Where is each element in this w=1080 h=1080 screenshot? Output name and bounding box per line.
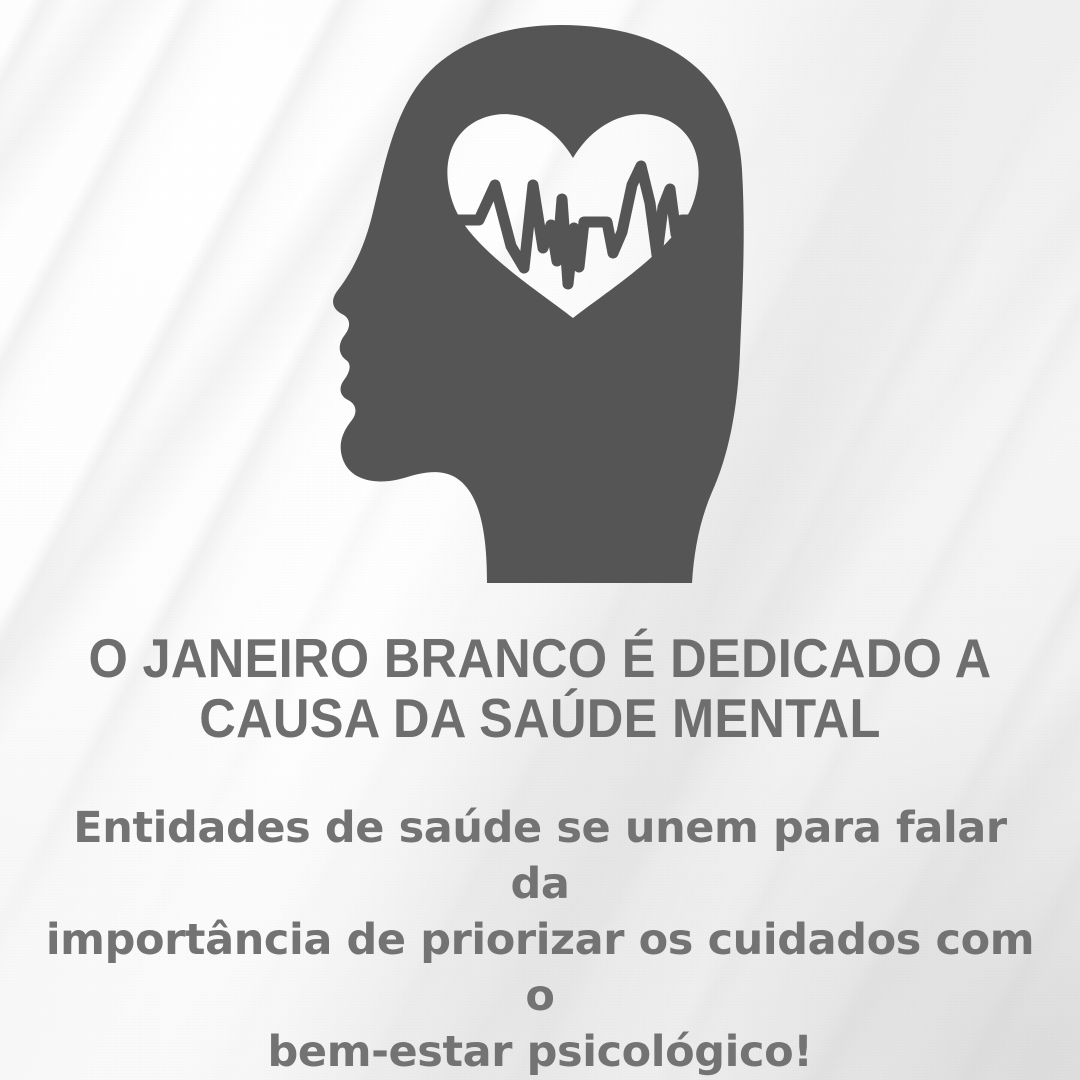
headline: O JANEIRO BRANCO É DEDICADO A CAUSA DA S… (80, 628, 1000, 748)
head-profile-with-heartbeat-illustration (0, 0, 1080, 620)
poster-canvas: O JANEIRO BRANCO É DEDICADO A CAUSA DA S… (0, 0, 1080, 1080)
head-silhouette-icon (0, 0, 1080, 620)
text-block: O JANEIRO BRANCO É DEDICADO A CAUSA DA S… (0, 628, 1080, 1080)
subheadline: Entidades de saúde se unem para falar da… (40, 748, 1040, 1080)
